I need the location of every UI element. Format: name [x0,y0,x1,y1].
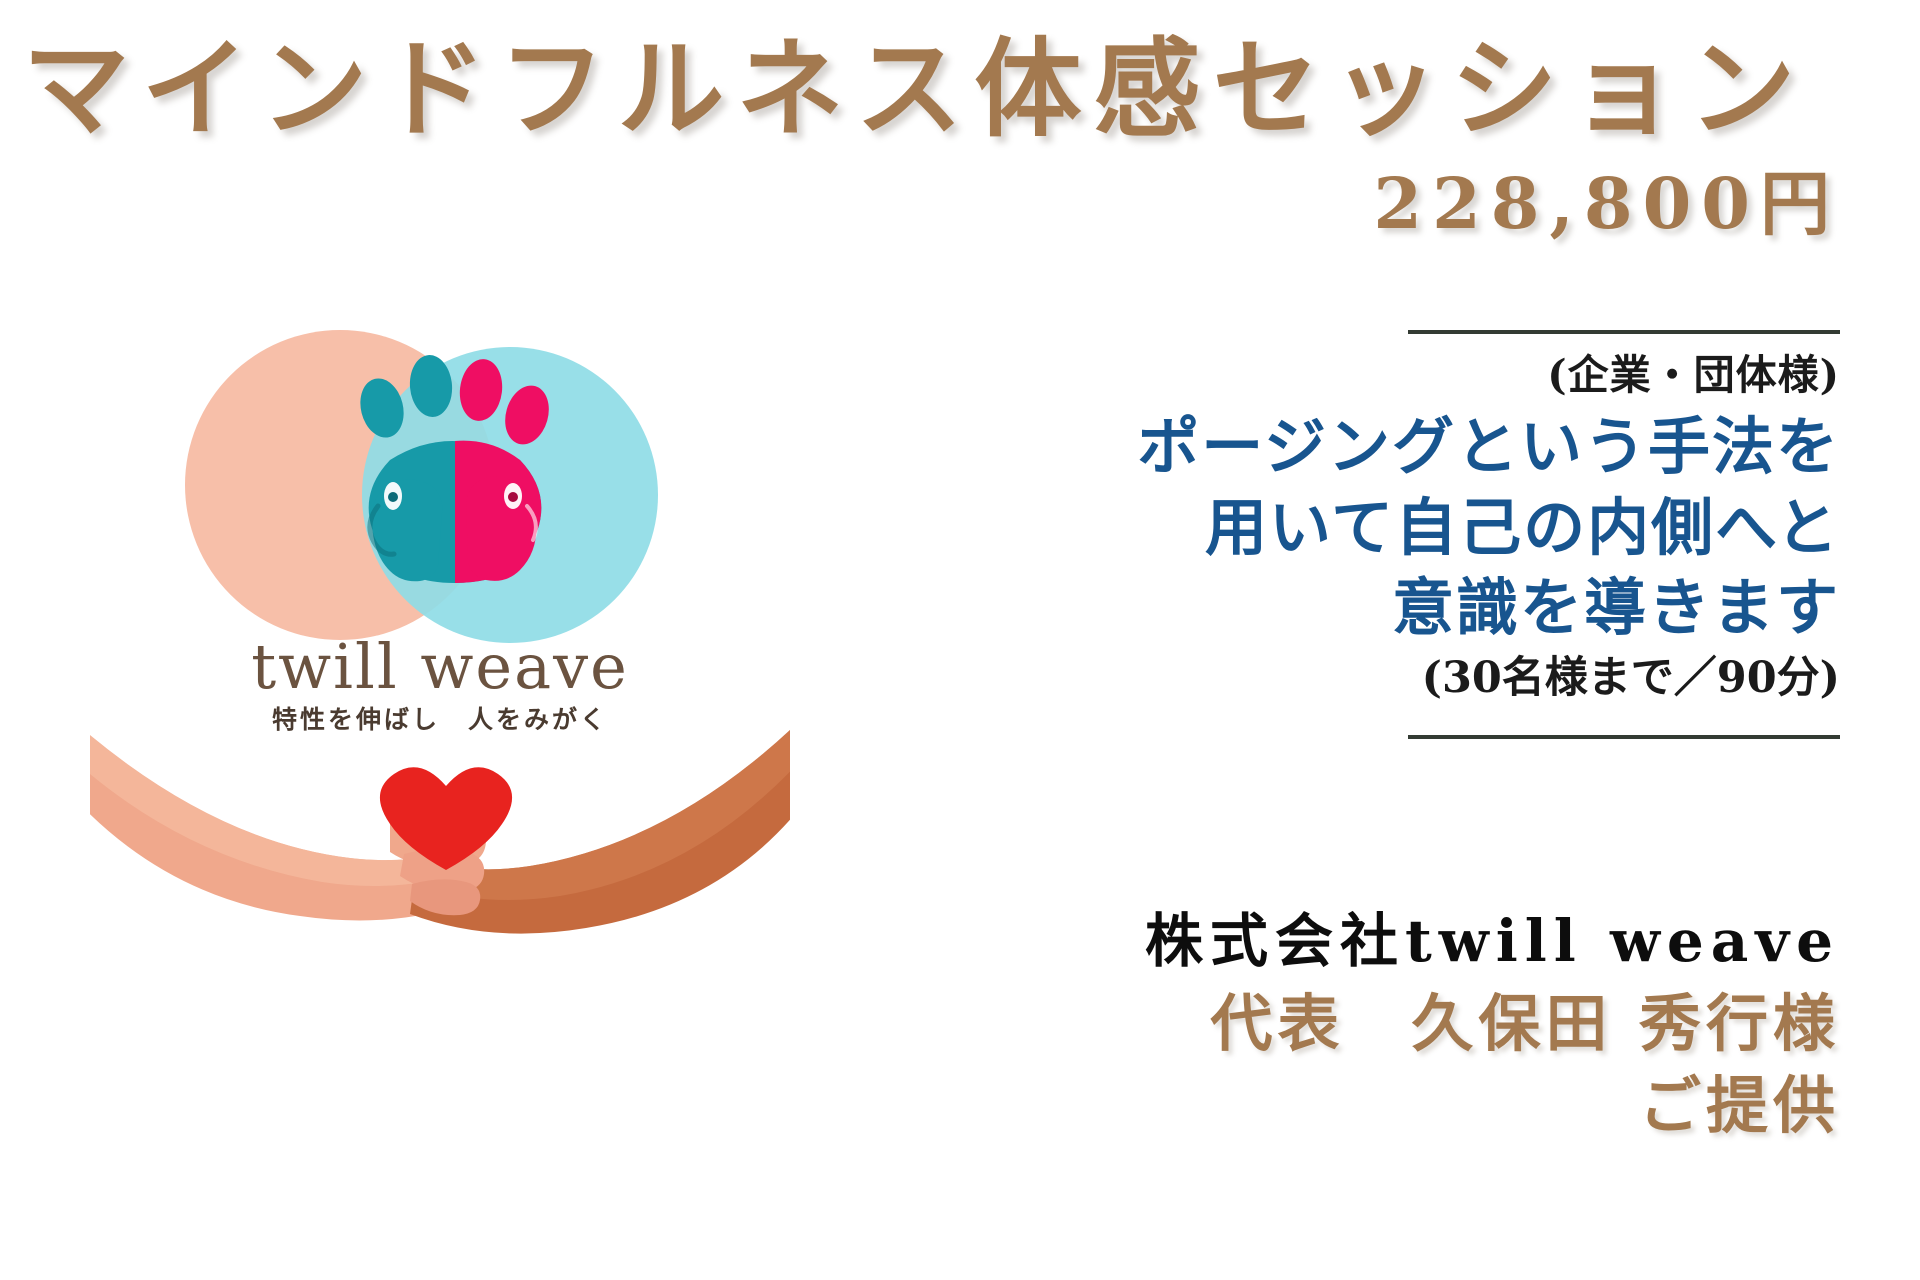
description-text: ポージングという手法を 用いて自己の内側へと 意識を導きます [830,407,1840,649]
logo-tagline: 特性を伸ばし 人をみがく [90,700,790,736]
details-column: (企業・団体様) ポージングという手法を 用いて自己の内側へと 意識を導きます … [830,330,1840,739]
logo-wordmark: twill weave [90,630,790,703]
representative-name: 代表 久保田 秀行様 [830,984,1840,1065]
poster-canvas: マインドフルネス体感セッション 228,800円 [0,0,1920,1280]
description-line-3: 意識を導きます [830,568,1840,649]
twill-weave-logo: twill weave 特性を伸ばし 人をみがく [90,300,790,940]
price-label: 228,800円 [1373,148,1840,249]
company-name: 株式会社twill weave [830,905,1840,978]
provided-by-label: ご提供 [830,1066,1840,1147]
footer-column: 株式会社twill weave 代表 久保田 秀行様 ご提供 [830,905,1840,1147]
audience-note: (企業・団体様) [830,350,1840,401]
divider-bottom [1408,735,1840,739]
divider-top [1408,330,1840,334]
page-title: マインドフルネス体感セッション [0,34,1830,146]
description-line-2: 用いて自己の内側へと [830,488,1840,569]
description-line-1: ポージングという手法を [830,407,1840,488]
capacity-note: (30名様まで／90分) [830,651,1840,707]
